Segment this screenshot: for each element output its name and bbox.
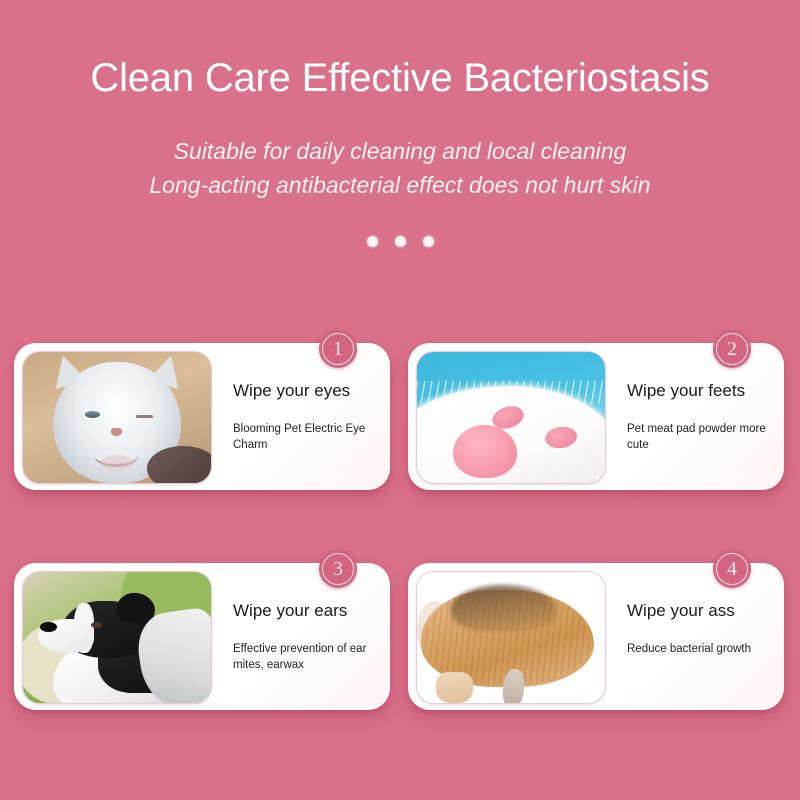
feature-thumbnail-3 (22, 571, 212, 704)
carousel-dot-3[interactable] (423, 236, 434, 247)
step-badge-number-1: 1 (333, 339, 343, 359)
cat-paw-image (417, 352, 605, 483)
carousel-dot-2[interactable] (395, 236, 406, 247)
feature-card-2[interactable]: Wipe your feets Pet meat pad powder more… (408, 343, 784, 490)
step-badge-1: 1 (319, 330, 357, 368)
ginger-cat-image (417, 572, 605, 703)
feature-card-description-4: Reduce bacterial growth (627, 641, 779, 657)
step-badge-4: 4 (713, 550, 751, 588)
hero-subtitle-line-2: Long-acting antibacterial effect does no… (0, 168, 800, 202)
carousel-dots[interactable] (0, 236, 800, 247)
hero-subtitle: Suitable for daily cleaning and local cl… (0, 134, 800, 202)
feature-card-body-1: Wipe your eyes Blooming Pet Electric Eye… (222, 343, 390, 490)
feature-card-4[interactable]: Wipe your ass Reduce bacterial growth 4 (408, 563, 784, 710)
hero-section: Clean Care Effective Bacteriostasis Suit… (0, 0, 800, 300)
product-promo-banner: Clean Care Effective Bacteriostasis Suit… (0, 0, 800, 800)
border-collie-image (23, 572, 211, 703)
feature-thumbnail-4 (416, 571, 606, 704)
hero-subtitle-line-1: Suitable for daily cleaning and local cl… (0, 134, 800, 168)
feature-card-title-2: Wipe your feets (627, 381, 745, 401)
step-badge-number-3: 3 (333, 559, 343, 579)
feature-card-description-2: Pet meat pad powder more cute (627, 421, 779, 453)
step-badge-3: 3 (319, 550, 357, 588)
feature-card-title-3: Wipe your ears (233, 601, 347, 621)
feature-card-title-1: Wipe your eyes (233, 381, 350, 401)
feature-card-1[interactable]: Wipe your eyes Blooming Pet Electric Eye… (14, 343, 390, 490)
step-badge-number-2: 2 (727, 339, 737, 359)
winking-cat-image (23, 352, 211, 483)
step-badge-number-4: 4 (727, 559, 737, 579)
feature-card-description-1: Blooming Pet Electric Eye Charm (233, 421, 385, 453)
feature-card-title-4: Wipe your ass (627, 601, 735, 621)
feature-card-body-2: Wipe your feets Pet meat pad powder more… (616, 343, 784, 490)
page-title: Clean Care Effective Bacteriostasis (0, 52, 800, 104)
feature-card-description-3: Effective prevention of ear mites, earwa… (233, 641, 385, 673)
feature-card-body-4: Wipe your ass Reduce bacterial growth (616, 563, 784, 710)
feature-card-body-3: Wipe your ears Effective prevention of e… (222, 563, 390, 710)
feature-card-grid: Wipe your eyes Blooming Pet Electric Eye… (0, 330, 800, 730)
step-badge-2: 2 (713, 330, 751, 368)
carousel-dot-1[interactable] (367, 236, 378, 247)
feature-thumbnail-2 (416, 351, 606, 484)
feature-card-3[interactable]: Wipe your ears Effective prevention of e… (14, 563, 390, 710)
feature-thumbnail-1 (22, 351, 212, 484)
